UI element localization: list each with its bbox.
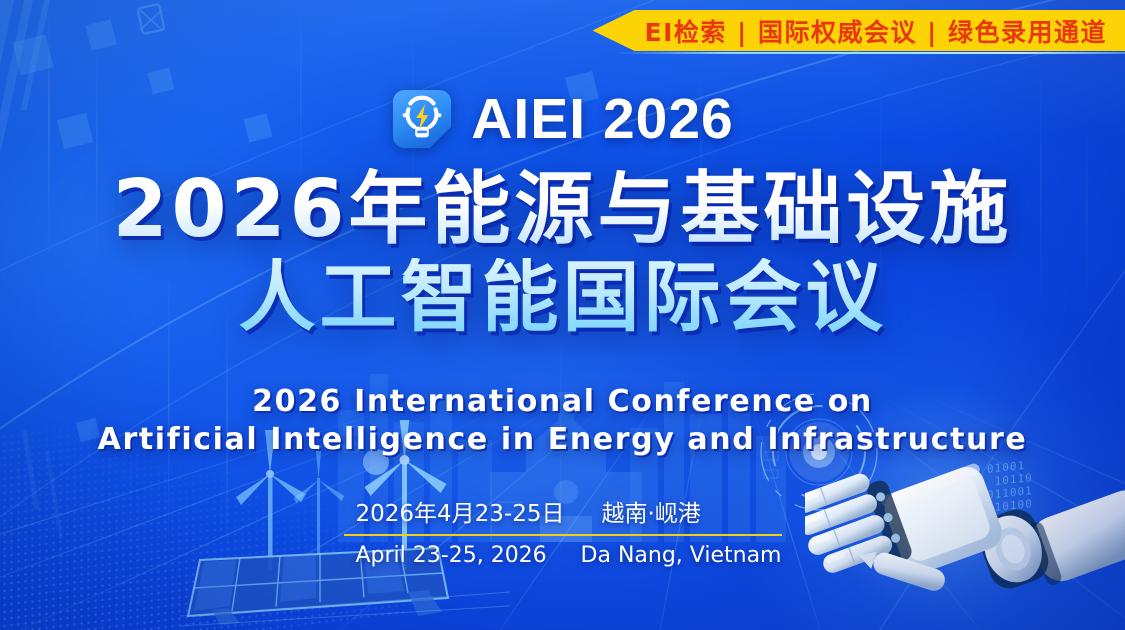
highlights-ribbon: EI检索 | 国际权威会议 | 绿色录用通道 [593, 10, 1125, 51]
ribbon-underline [613, 52, 1125, 54]
ribbon-label: EI检索 | 国际权威会议 | 绿色录用通道 [645, 13, 1107, 49]
meta-row-chinese: 2026年4月23-25日 越南·岘港 [344, 494, 782, 534]
date-english: April 23-25, 2026 [344, 543, 571, 568]
main-title: 2026年能源与基础设施 人工智能国际会议 [0, 168, 1125, 339]
subtitle-line-2: Artificial Intelligence in Energy and In… [0, 421, 1125, 459]
brand-row: AIEI 2026 [0, 88, 1125, 150]
title-line-2: 人工智能国际会议 [0, 258, 1125, 340]
subtitle-line-1: 2026 International Conference on [0, 383, 1125, 421]
english-subtitle: 2026 International Conference on Artific… [0, 383, 1125, 459]
conference-banner: 01001 10110 011001 10100 01101 [0, 0, 1125, 630]
venue-english: Da Nang, Vietnam [571, 543, 782, 568]
conference-acronym: AIEI 2026 [471, 91, 734, 148]
date-venue-block: 2026年4月23-25日 越南·岘港 April 23-25, 2026 Da… [344, 494, 782, 568]
lightbulb-circuit-icon [391, 88, 453, 150]
date-chinese: 2026年4月23-25日 [344, 494, 592, 528]
venue-chinese: 越南·岘港 [592, 494, 782, 528]
title-line-1: 2026年能源与基础设施 [0, 168, 1125, 252]
meta-row-english: April 23-25, 2026 Da Nang, Vietnam [344, 536, 782, 568]
